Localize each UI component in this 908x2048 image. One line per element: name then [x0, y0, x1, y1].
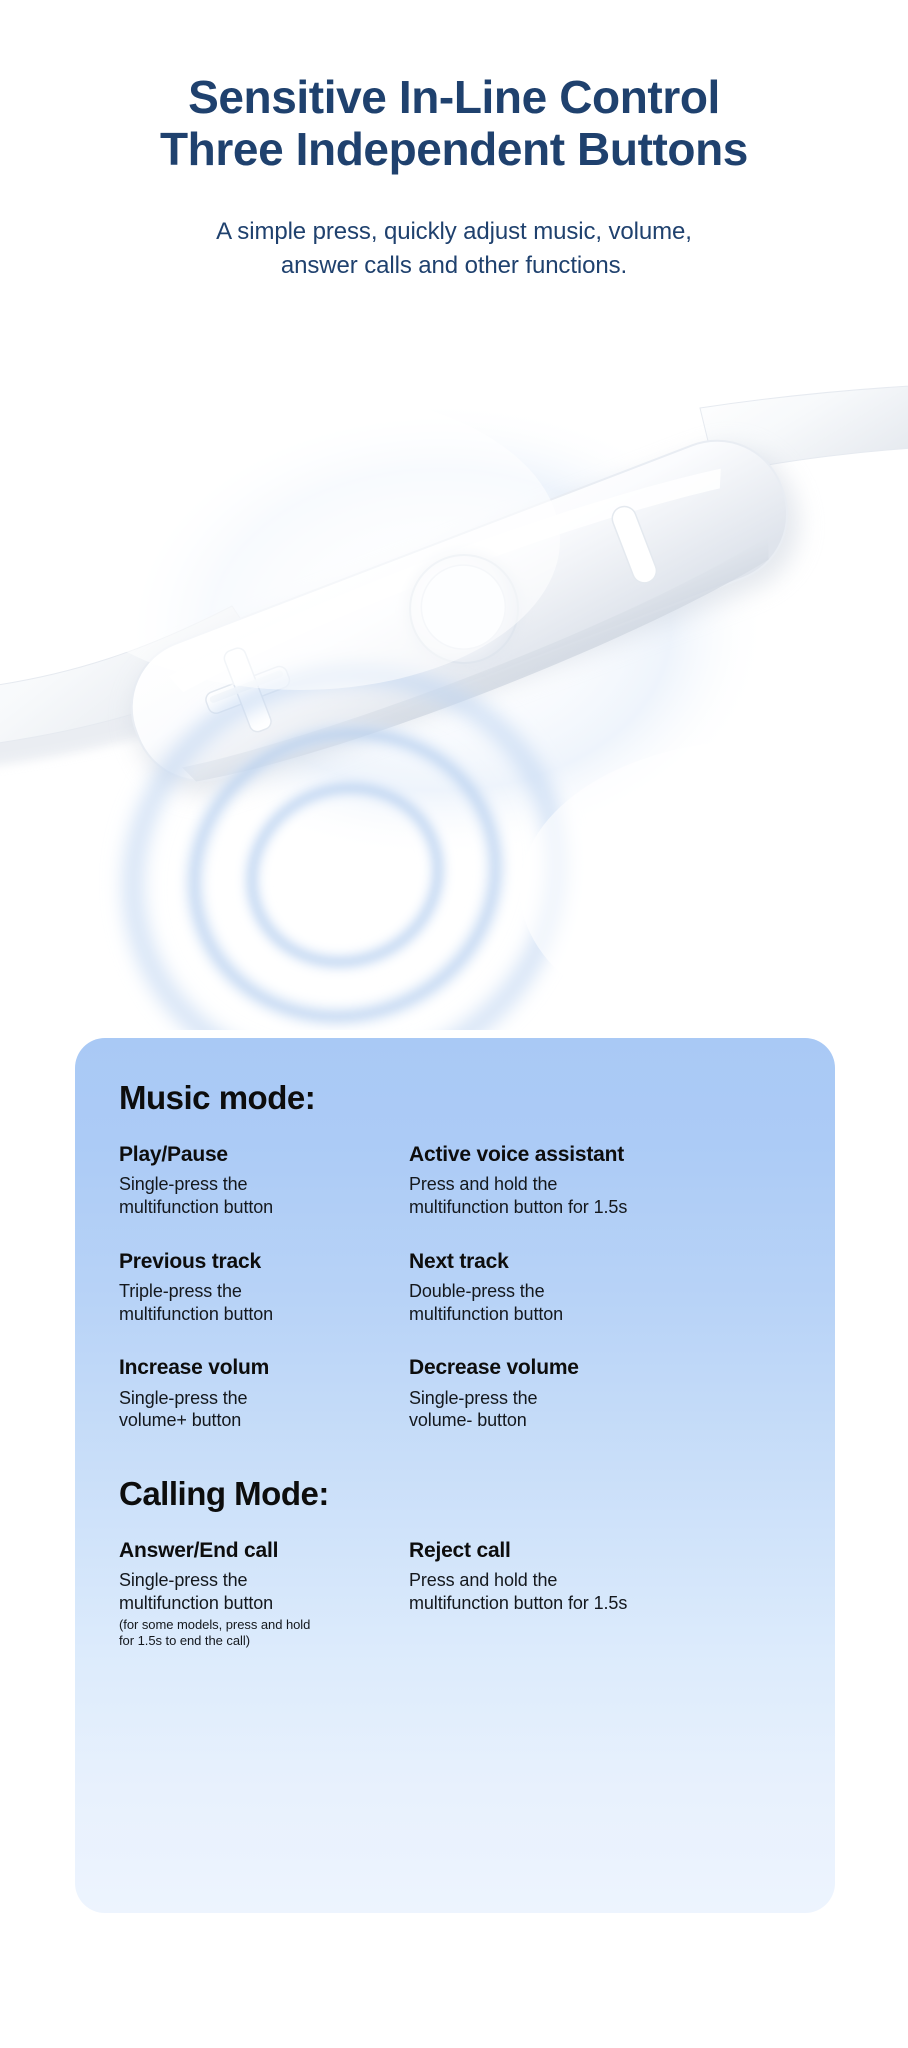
feature-description: Press and hold the multifunction button …	[409, 1173, 809, 1218]
feature-description: Single-press the volume- button	[409, 1387, 809, 1432]
feature-title: Answer/End call	[119, 1538, 389, 1563]
product-photo	[0, 330, 908, 1030]
card-content: Music mode: Play/Pause Single-press the …	[119, 1080, 809, 1649]
page-title: Sensitive In-Line Control Three Independ…	[0, 72, 908, 175]
product-feature-page: Sensitive In-Line Control Three Independ…	[0, 0, 908, 2048]
feature-item: Active voice assistant Press and hold th…	[409, 1142, 809, 1219]
page-subtitle-line-2: answer calls and other functions.	[0, 249, 908, 283]
calling-mode-heading: Calling Mode:	[119, 1476, 809, 1512]
earphone-control-illustration	[0, 330, 908, 1030]
feature-item: Decrease volume Single-press the volume-…	[409, 1355, 809, 1432]
feature-title: Reject call	[409, 1538, 809, 1563]
page-subtitle-line-1: A simple press, quickly adjust music, vo…	[0, 215, 908, 249]
page-subtitle: A simple press, quickly adjust music, vo…	[0, 215, 908, 283]
feature-title: Decrease volume	[409, 1355, 809, 1380]
feature-description: Press and hold the multifunction button …	[409, 1569, 809, 1614]
feature-title: Play/Pause	[119, 1142, 389, 1167]
feature-item: Next track Double-press the multifunctio…	[409, 1249, 809, 1326]
feature-title: Next track	[409, 1249, 809, 1274]
music-mode-feature-grid: Play/Pause Single-press the multifunctio…	[119, 1142, 809, 1432]
control-guide-card: Music mode: Play/Pause Single-press the …	[75, 1038, 835, 1913]
feature-description: Single-press the volume+ button	[119, 1387, 389, 1432]
feature-title: Increase volum	[119, 1355, 389, 1380]
feature-title: Previous track	[119, 1249, 389, 1274]
feature-item: Answer/End call Single-press the multifu…	[119, 1538, 389, 1649]
feature-description: Single-press the multifunction button	[119, 1569, 389, 1614]
feature-item: Increase volum Single-press the volume+ …	[119, 1355, 389, 1432]
page-title-line-1: Sensitive In-Line Control	[0, 72, 908, 124]
feature-footnote: (for some models, press and hold for 1.5…	[119, 1617, 389, 1650]
page-header: Sensitive In-Line Control Three Independ…	[0, 0, 908, 283]
calling-mode-feature-grid: Answer/End call Single-press the multifu…	[119, 1538, 809, 1649]
feature-description: Double-press the multifunction button	[409, 1280, 809, 1325]
feature-item: Reject call Press and hold the multifunc…	[409, 1538, 809, 1649]
page-title-line-2: Three Independent Buttons	[0, 124, 908, 176]
feature-item: Previous track Triple-press the multifun…	[119, 1249, 389, 1326]
feature-item: Play/Pause Single-press the multifunctio…	[119, 1142, 389, 1219]
feature-description: Triple-press the multifunction button	[119, 1280, 389, 1325]
feature-title: Active voice assistant	[409, 1142, 809, 1167]
music-mode-heading: Music mode:	[119, 1080, 809, 1116]
feature-description: Single-press the multifunction button	[119, 1173, 389, 1218]
